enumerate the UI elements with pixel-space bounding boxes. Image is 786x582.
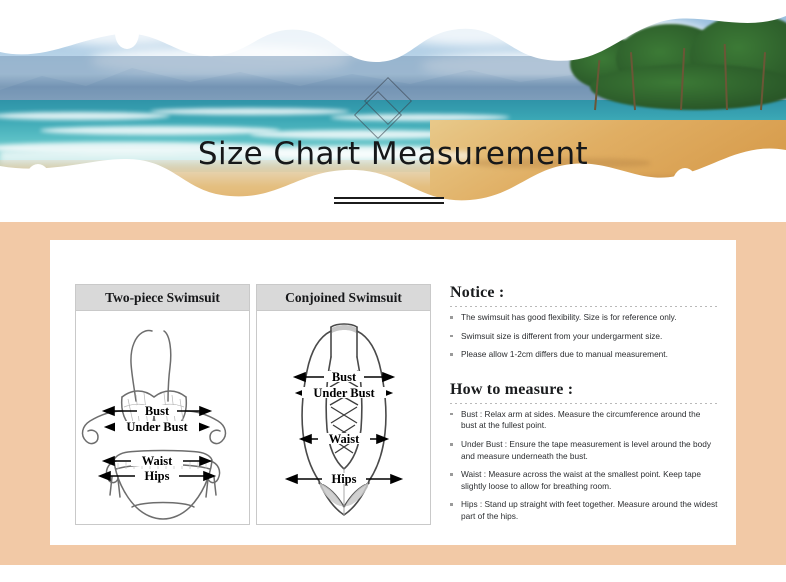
svg-text:Waist: Waist — [329, 432, 360, 446]
notice-heading: Notice : — [450, 284, 718, 302]
svg-text:Bust: Bust — [145, 404, 170, 418]
svg-text:Under Bust: Under Bust — [126, 420, 188, 434]
info-column: Notice : The swimsuit has good flexibili… — [450, 284, 718, 530]
svg-text:Waist: Waist — [142, 454, 173, 468]
palm-trees — [560, 8, 786, 138]
list-item: Hips : Stand up straight with feet toget… — [450, 499, 718, 522]
sand-streak — [500, 192, 730, 203]
list-item: Please allow 1-2cm differs due to manual… — [450, 349, 718, 361]
svg-text:Hips: Hips — [144, 469, 169, 483]
panel-title-two-piece: Two-piece Swimsuit — [76, 285, 249, 311]
how-to-measure-heading: How to measure : — [450, 381, 718, 399]
double-diamond-logo-icon — [355, 82, 417, 140]
surf-line — [40, 126, 280, 135]
notice-divider — [450, 306, 718, 307]
list-item: The swimsuit has good flexibility. Size … — [450, 312, 718, 324]
panel-two-piece-swimsuit: Two-piece Swimsuit — [75, 284, 250, 525]
surf-line — [150, 108, 350, 115]
panel-title-conjoined: Conjoined Swimsuit — [257, 285, 430, 311]
sand-streak — [560, 176, 750, 185]
two-piece-diagram: Bust Under Bust Waist Hips Bust Under Bu… — [76, 311, 249, 524]
hero-banner: Size Chart Measurement — [0, 0, 786, 218]
content-card: Two-piece Swimsuit — [50, 240, 736, 545]
svg-text:Hips: Hips — [331, 472, 356, 486]
palm-canopy — [590, 64, 786, 110]
svg-text:Bust: Bust — [332, 370, 357, 384]
notice-list: The swimsuit has good flexibility. Size … — [450, 312, 718, 361]
two-piece-illustration: Bust Under Bust Waist Hips Bust Under Bu… — [76, 311, 249, 524]
list-item: Waist : Measure across the waist at the … — [450, 469, 718, 492]
conjoined-diagram: Bust Under Bust Waist Hips — [257, 311, 430, 524]
how-to-measure-divider — [450, 403, 718, 404]
size-chart-page: Size Chart Measurement Two-piece Swimsui… — [0, 0, 786, 582]
title-underline — [334, 197, 444, 204]
mountain-silhouette — [0, 56, 620, 104]
panel-conjoined-swimsuit: Conjoined Swimsuit — [256, 284, 431, 525]
page-title: Size Chart Measurement — [0, 136, 786, 172]
how-to-measure-list: Bust : Relax arm at sides. Measure the c… — [450, 409, 718, 523]
conjoined-illustration: Bust Under Bust Waist Hips — [257, 311, 430, 524]
list-item: Under Bust : Ensure the tape measurement… — [450, 439, 718, 462]
list-item: Swimsuit size is different from your und… — [450, 331, 718, 343]
list-item: Bust : Relax arm at sides. Measure the c… — [450, 409, 718, 432]
svg-text:Under Bust: Under Bust — [313, 386, 375, 400]
